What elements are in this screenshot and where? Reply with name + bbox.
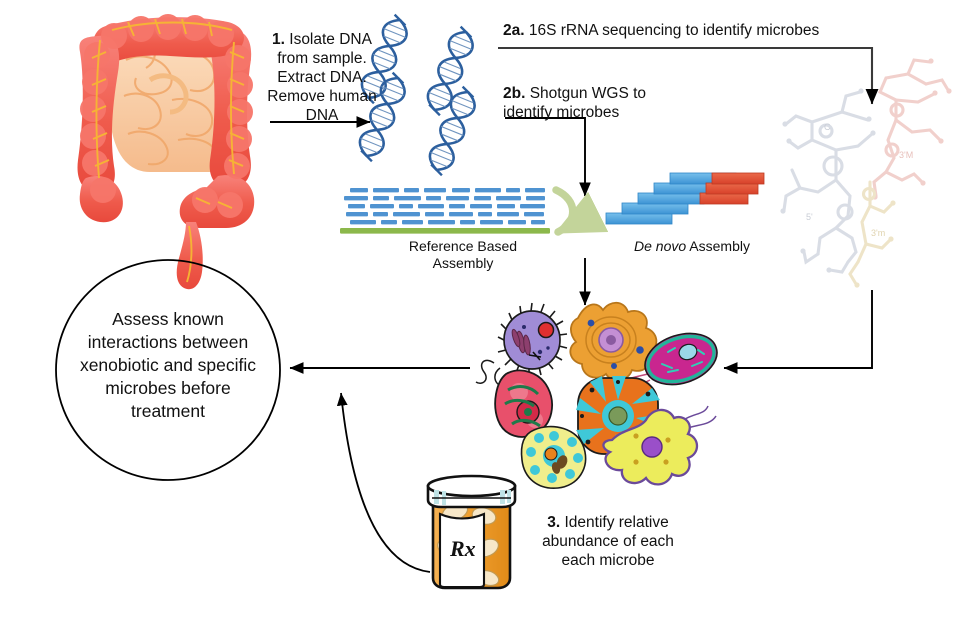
microbe-orange-amoeba bbox=[570, 303, 656, 381]
intestine-illustration bbox=[78, 14, 255, 289]
pill-bottle-illustration: Rx bbox=[428, 476, 515, 588]
figure-canvas: C 5' 3'M 3'm bbox=[0, 0, 960, 629]
microbe-red-flagellate bbox=[476, 360, 552, 437]
microbe-yellow-amoeba bbox=[603, 406, 716, 484]
step3-number: 3. bbox=[547, 514, 560, 531]
arrow-step2b bbox=[505, 118, 585, 196]
step2a-body: 16S rRNA sequencing to identify microbes bbox=[525, 22, 820, 39]
step3-label: 3. Identify relative abundance of each e… bbox=[528, 495, 688, 571]
microbe-orange-teal-radial bbox=[576, 376, 662, 458]
reference-assembly-caption: Reference Based Assembly bbox=[398, 238, 528, 272]
step2b-body: Shotgun WGS to identify microbes bbox=[503, 85, 646, 121]
microbe-purple-ciliate bbox=[498, 303, 567, 376]
rrna-label-5prime: 5' bbox=[806, 212, 813, 222]
step1-number: 1. bbox=[272, 31, 285, 48]
dna-helix bbox=[422, 25, 478, 117]
step2a-label: 2a. 16S rRNA sequencing to identify micr… bbox=[503, 22, 819, 41]
step3-body: Identify relative abundance of each each… bbox=[542, 514, 674, 569]
microbes-cluster bbox=[476, 303, 724, 488]
de-novo-rest: Assembly bbox=[686, 238, 750, 254]
arrow-rrna-to-microbes bbox=[724, 290, 872, 368]
de-novo-assembly-graphic bbox=[606, 173, 764, 224]
microbe-magenta-oval bbox=[604, 325, 724, 400]
step1-label: 1. Isolate DNA from sample. Extract DNA.… bbox=[262, 12, 382, 125]
rrna-label-3M: 3'M bbox=[899, 150, 913, 160]
de-novo-assembly-caption: De novo Assembly bbox=[612, 238, 772, 255]
rrna-label-c: C bbox=[824, 122, 831, 132]
arrow-treatment-curve bbox=[341, 393, 430, 572]
pill-bottle-rx-label: Rx bbox=[449, 536, 476, 561]
rrna-secondary-structure: C 5' 3'M 3'm bbox=[780, 58, 951, 287]
assembly-curve-arrow bbox=[556, 190, 573, 232]
rrna-label-3m: 3'm bbox=[871, 228, 885, 238]
step2b-label: 2b. Shotgun WGS to identify microbes bbox=[503, 66, 673, 123]
reference-based-assembly-graphic bbox=[340, 188, 573, 234]
microbe-yellow-teal-round bbox=[522, 427, 586, 489]
de-novo-italic: De novo bbox=[634, 238, 686, 254]
step2b-number: 2b. bbox=[503, 85, 525, 102]
assessment-circle-text: Assess known interactions between xenobi… bbox=[62, 308, 274, 423]
dna-helix bbox=[424, 85, 480, 177]
step2a-number: 2a. bbox=[503, 22, 525, 39]
